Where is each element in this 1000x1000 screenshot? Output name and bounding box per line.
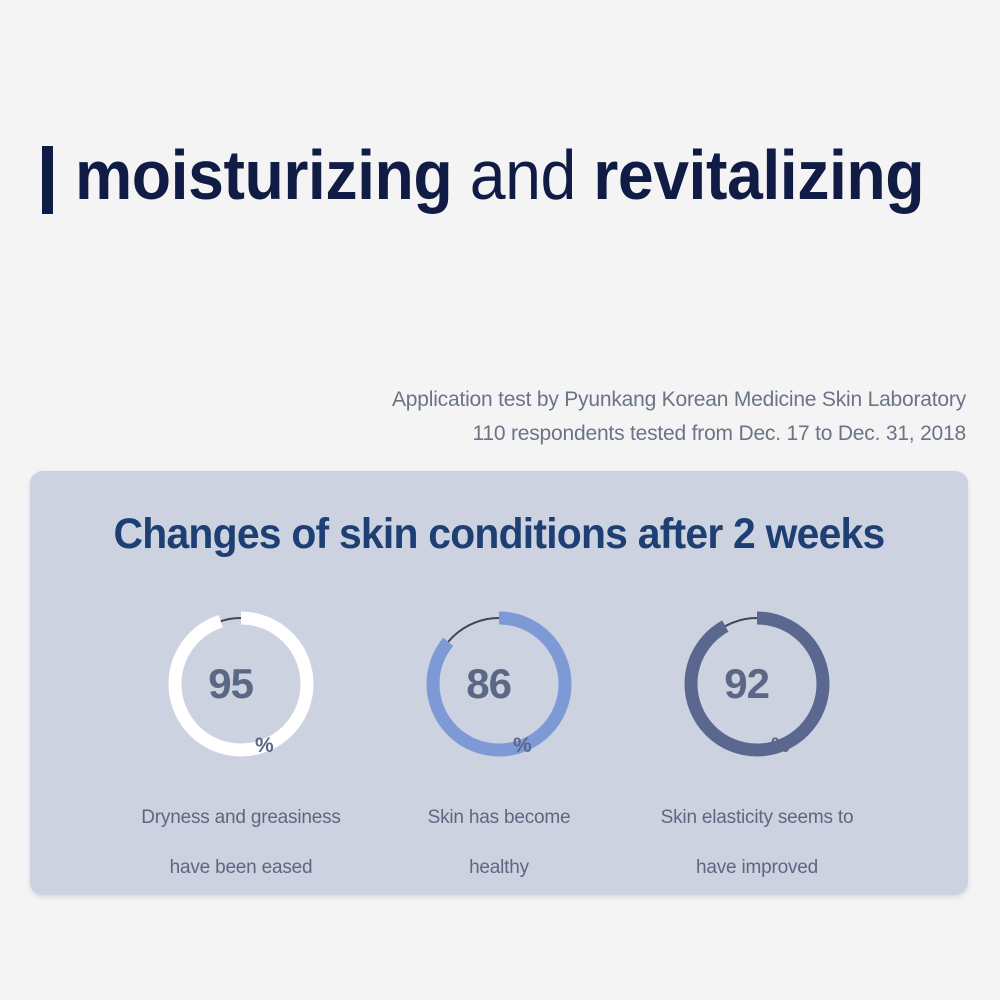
hero-headline: moisturizing and revitalizing — [42, 136, 998, 214]
study-credit: Application test by Pyunkang Korean Medi… — [392, 383, 966, 451]
donut-caption-line-1: Skin has become — [428, 807, 571, 828]
donut-value-number: 86 — [466, 663, 511, 705]
card-heading: Changes of skin conditions after 2 weeks — [53, 509, 944, 559]
donut-caption-line-1: Skin elasticity seems to — [661, 807, 854, 828]
donut-chart-row: 95 % Dryness and greasiness have been ea… — [30, 608, 968, 880]
hero-accent-bar — [42, 146, 53, 214]
donut-percent-symbol: % — [513, 735, 532, 760]
study-credit-line-2: 110 respondents tested from Dec. 17 to D… — [392, 417, 966, 451]
page-title: moisturizing and revitalizing — [75, 136, 924, 214]
donut-caption-line-1: Dryness and greasiness — [141, 807, 340, 828]
hero-title-part-1: moisturizing — [75, 136, 452, 214]
donut-caption: Skin has become healthy — [428, 780, 571, 880]
donut-percent-symbol: % — [771, 735, 790, 760]
hero-title-part-2: revitalizing — [593, 136, 924, 214]
stats-card: Changes of skin conditions after 2 weeks… — [30, 471, 968, 895]
donut-chart: 92 % — [681, 608, 833, 760]
donut-center-value: 86 % — [423, 608, 575, 760]
donut-percent-symbol: % — [255, 735, 274, 760]
study-credit-line-1: Application test by Pyunkang Korean Medi… — [392, 383, 966, 417]
donut-cell: 95 % Dryness and greasiness have been ea… — [112, 608, 370, 880]
donut-cell: 86 % Skin has become healthy — [370, 608, 628, 880]
donut-caption-line-2: have been eased — [170, 857, 313, 878]
donut-value-number: 92 — [724, 663, 769, 705]
donut-chart: 86 % — [423, 608, 575, 760]
donut-cell: 92 % Skin elasticity seems to have impro… — [628, 608, 886, 880]
donut-caption: Skin elasticity seems to have improved — [661, 780, 854, 880]
donut-chart: 95 % — [165, 608, 317, 760]
hero-title-conjunction: and — [452, 136, 593, 214]
donut-center-value: 95 % — [165, 608, 317, 760]
donut-caption: Dryness and greasiness have been eased — [141, 780, 340, 880]
donut-value-number: 95 — [208, 663, 253, 705]
donut-caption-line-2: healthy — [469, 857, 529, 878]
donut-caption-line-2: have improved — [696, 857, 818, 878]
donut-center-value: 92 % — [681, 608, 833, 760]
